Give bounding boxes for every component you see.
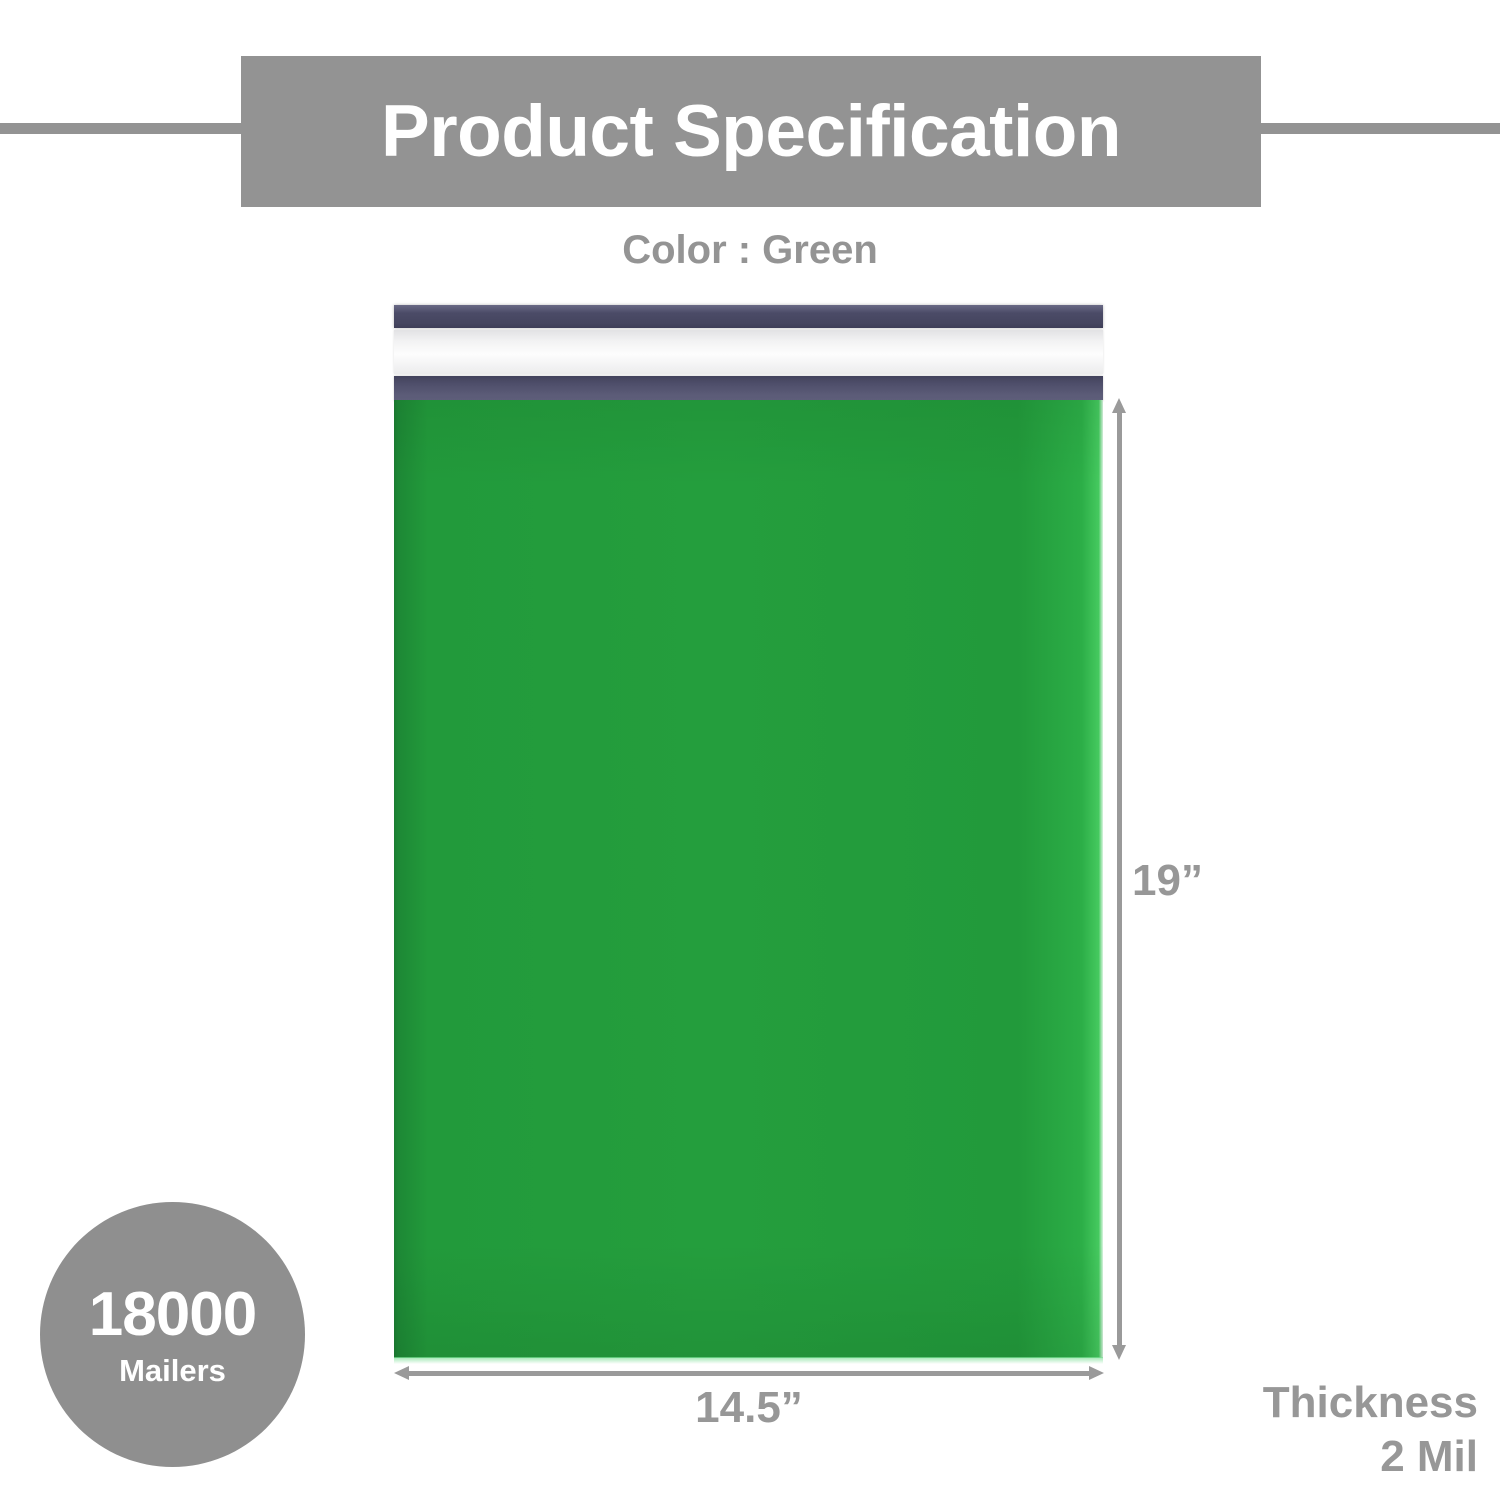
header-banner: Product Specification: [241, 56, 1261, 207]
width-dimension-arrow: [394, 1366, 1104, 1380]
quantity-unit: Mailers: [119, 1355, 226, 1386]
product-specification-page: Product Specification Color : Green 19” …: [0, 0, 1500, 1500]
height-dimension-label: 19”: [1132, 856, 1203, 906]
width-dimension-label: 14.5”: [394, 1383, 1104, 1433]
thickness-title: Thickness: [1263, 1376, 1478, 1430]
quantity-count: 18000: [89, 1284, 256, 1346]
arrow-down-icon: [1112, 1345, 1126, 1360]
mailer-bag-illustration: [394, 303, 1103, 1359]
bag-flap-top-strip: [394, 305, 1103, 328]
height-dimension-arrow: [1112, 398, 1126, 1360]
bag-body-shading: [394, 400, 1103, 1358]
bag-bottom-edge-glow: [394, 1357, 1103, 1364]
bag-adhesive-seal-strip: [394, 376, 1103, 401]
thickness-block: Thickness 2 Mil: [1263, 1376, 1478, 1483]
quantity-badge: 18000 Mailers: [40, 1202, 305, 1467]
width-dimension-line: [406, 1371, 1092, 1376]
bag-peel-liner-strip: [394, 330, 1103, 374]
bag-body-green: [394, 400, 1103, 1358]
color-attribute-label: Color : Green: [0, 228, 1500, 273]
arrow-right-icon: [1089, 1366, 1104, 1380]
page-title: Product Specification: [381, 95, 1121, 168]
thickness-value: 2 Mil: [1263, 1430, 1478, 1484]
height-dimension-line: [1117, 410, 1122, 1348]
